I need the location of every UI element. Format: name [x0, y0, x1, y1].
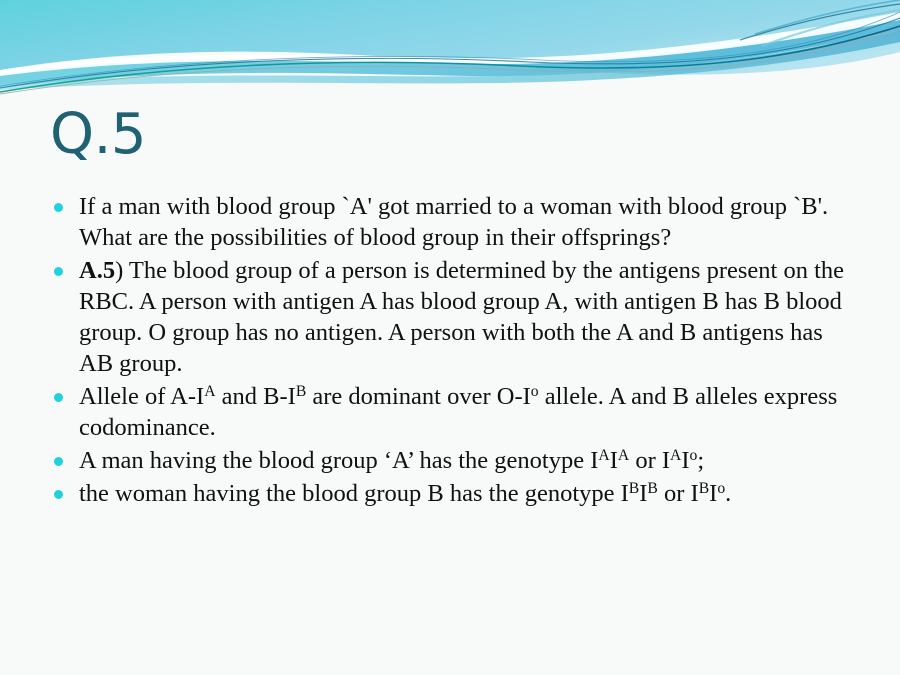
superscript: A [618, 447, 629, 464]
bullet-point-icon [54, 490, 63, 499]
superscript: o [717, 480, 725, 497]
superscript: B [647, 480, 657, 497]
superscript: A [670, 447, 681, 464]
bullet-point-icon [54, 457, 63, 466]
bullet-answer-intro: A.5) The blood group of a person is dete… [50, 255, 850, 379]
superscript: A [598, 447, 609, 464]
bullet-question: If a man with blood group `A' got marrie… [50, 191, 850, 253]
superscript: B [296, 383, 306, 400]
bullet-text: If a man with blood group `A' got marrie… [79, 191, 850, 253]
presentation-slide: Q.5 If a man with blood group `A' got ma… [0, 0, 900, 675]
bullet-text: Allele of A-IA and B-IB are dominant ove… [79, 381, 850, 443]
bullet-text: A man having the blood group ‘A’ has the… [79, 445, 850, 476]
bullet-point-icon [54, 393, 63, 402]
bullet-man-genotype: A man having the blood group ‘A’ has the… [50, 445, 850, 476]
bullet-text: A.5) The blood group of a person is dete… [79, 255, 850, 379]
bullet-text: the woman having the blood group B has t… [79, 478, 850, 509]
page-title: Q.5 [50, 104, 146, 166]
bullet-woman-genotype: the woman having the blood group B has t… [50, 478, 850, 509]
superscript: B [629, 480, 639, 497]
superscript: o [531, 383, 539, 400]
bold-label: A.5 [79, 257, 115, 284]
superscript: A [204, 383, 215, 400]
superscript: o [690, 447, 698, 464]
decorative-wave-banner [0, 0, 900, 96]
bullet-point-icon [54, 267, 63, 276]
slide-body-content: If a man with blood group `A' got marrie… [50, 191, 850, 511]
bullet-point-icon [54, 203, 63, 212]
bullet-alleles: Allele of A-IA and B-IB are dominant ove… [50, 381, 850, 443]
superscript: B [699, 480, 709, 497]
